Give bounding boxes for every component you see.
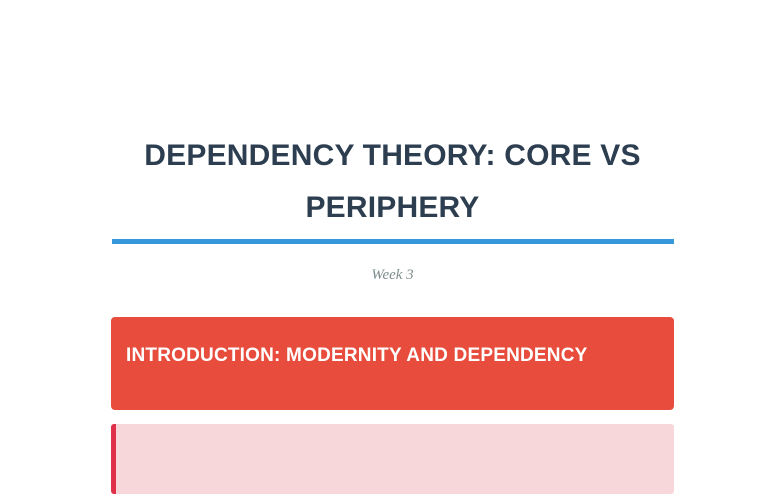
callout-box bbox=[111, 424, 674, 494]
title-block: Dependency Theory: Core vs Periphery bbox=[111, 130, 674, 233]
slide-subtitle: Week 3 bbox=[111, 265, 674, 285]
page-title: Dependency Theory: Core vs Periphery bbox=[111, 130, 674, 233]
section-heading-label: Introduction: Modernity and Dependency bbox=[126, 337, 652, 374]
slide-content-column: Dependency Theory: Core vs Periphery Wee… bbox=[111, 0, 674, 441]
callout-accent-bar bbox=[111, 424, 116, 494]
section-heading-banner: Introduction: Modernity and Dependency bbox=[111, 317, 674, 410]
slide-canvas: Dependency Theory: Core vs Periphery Wee… bbox=[0, 0, 784, 441]
title-divider-rule bbox=[112, 239, 674, 244]
